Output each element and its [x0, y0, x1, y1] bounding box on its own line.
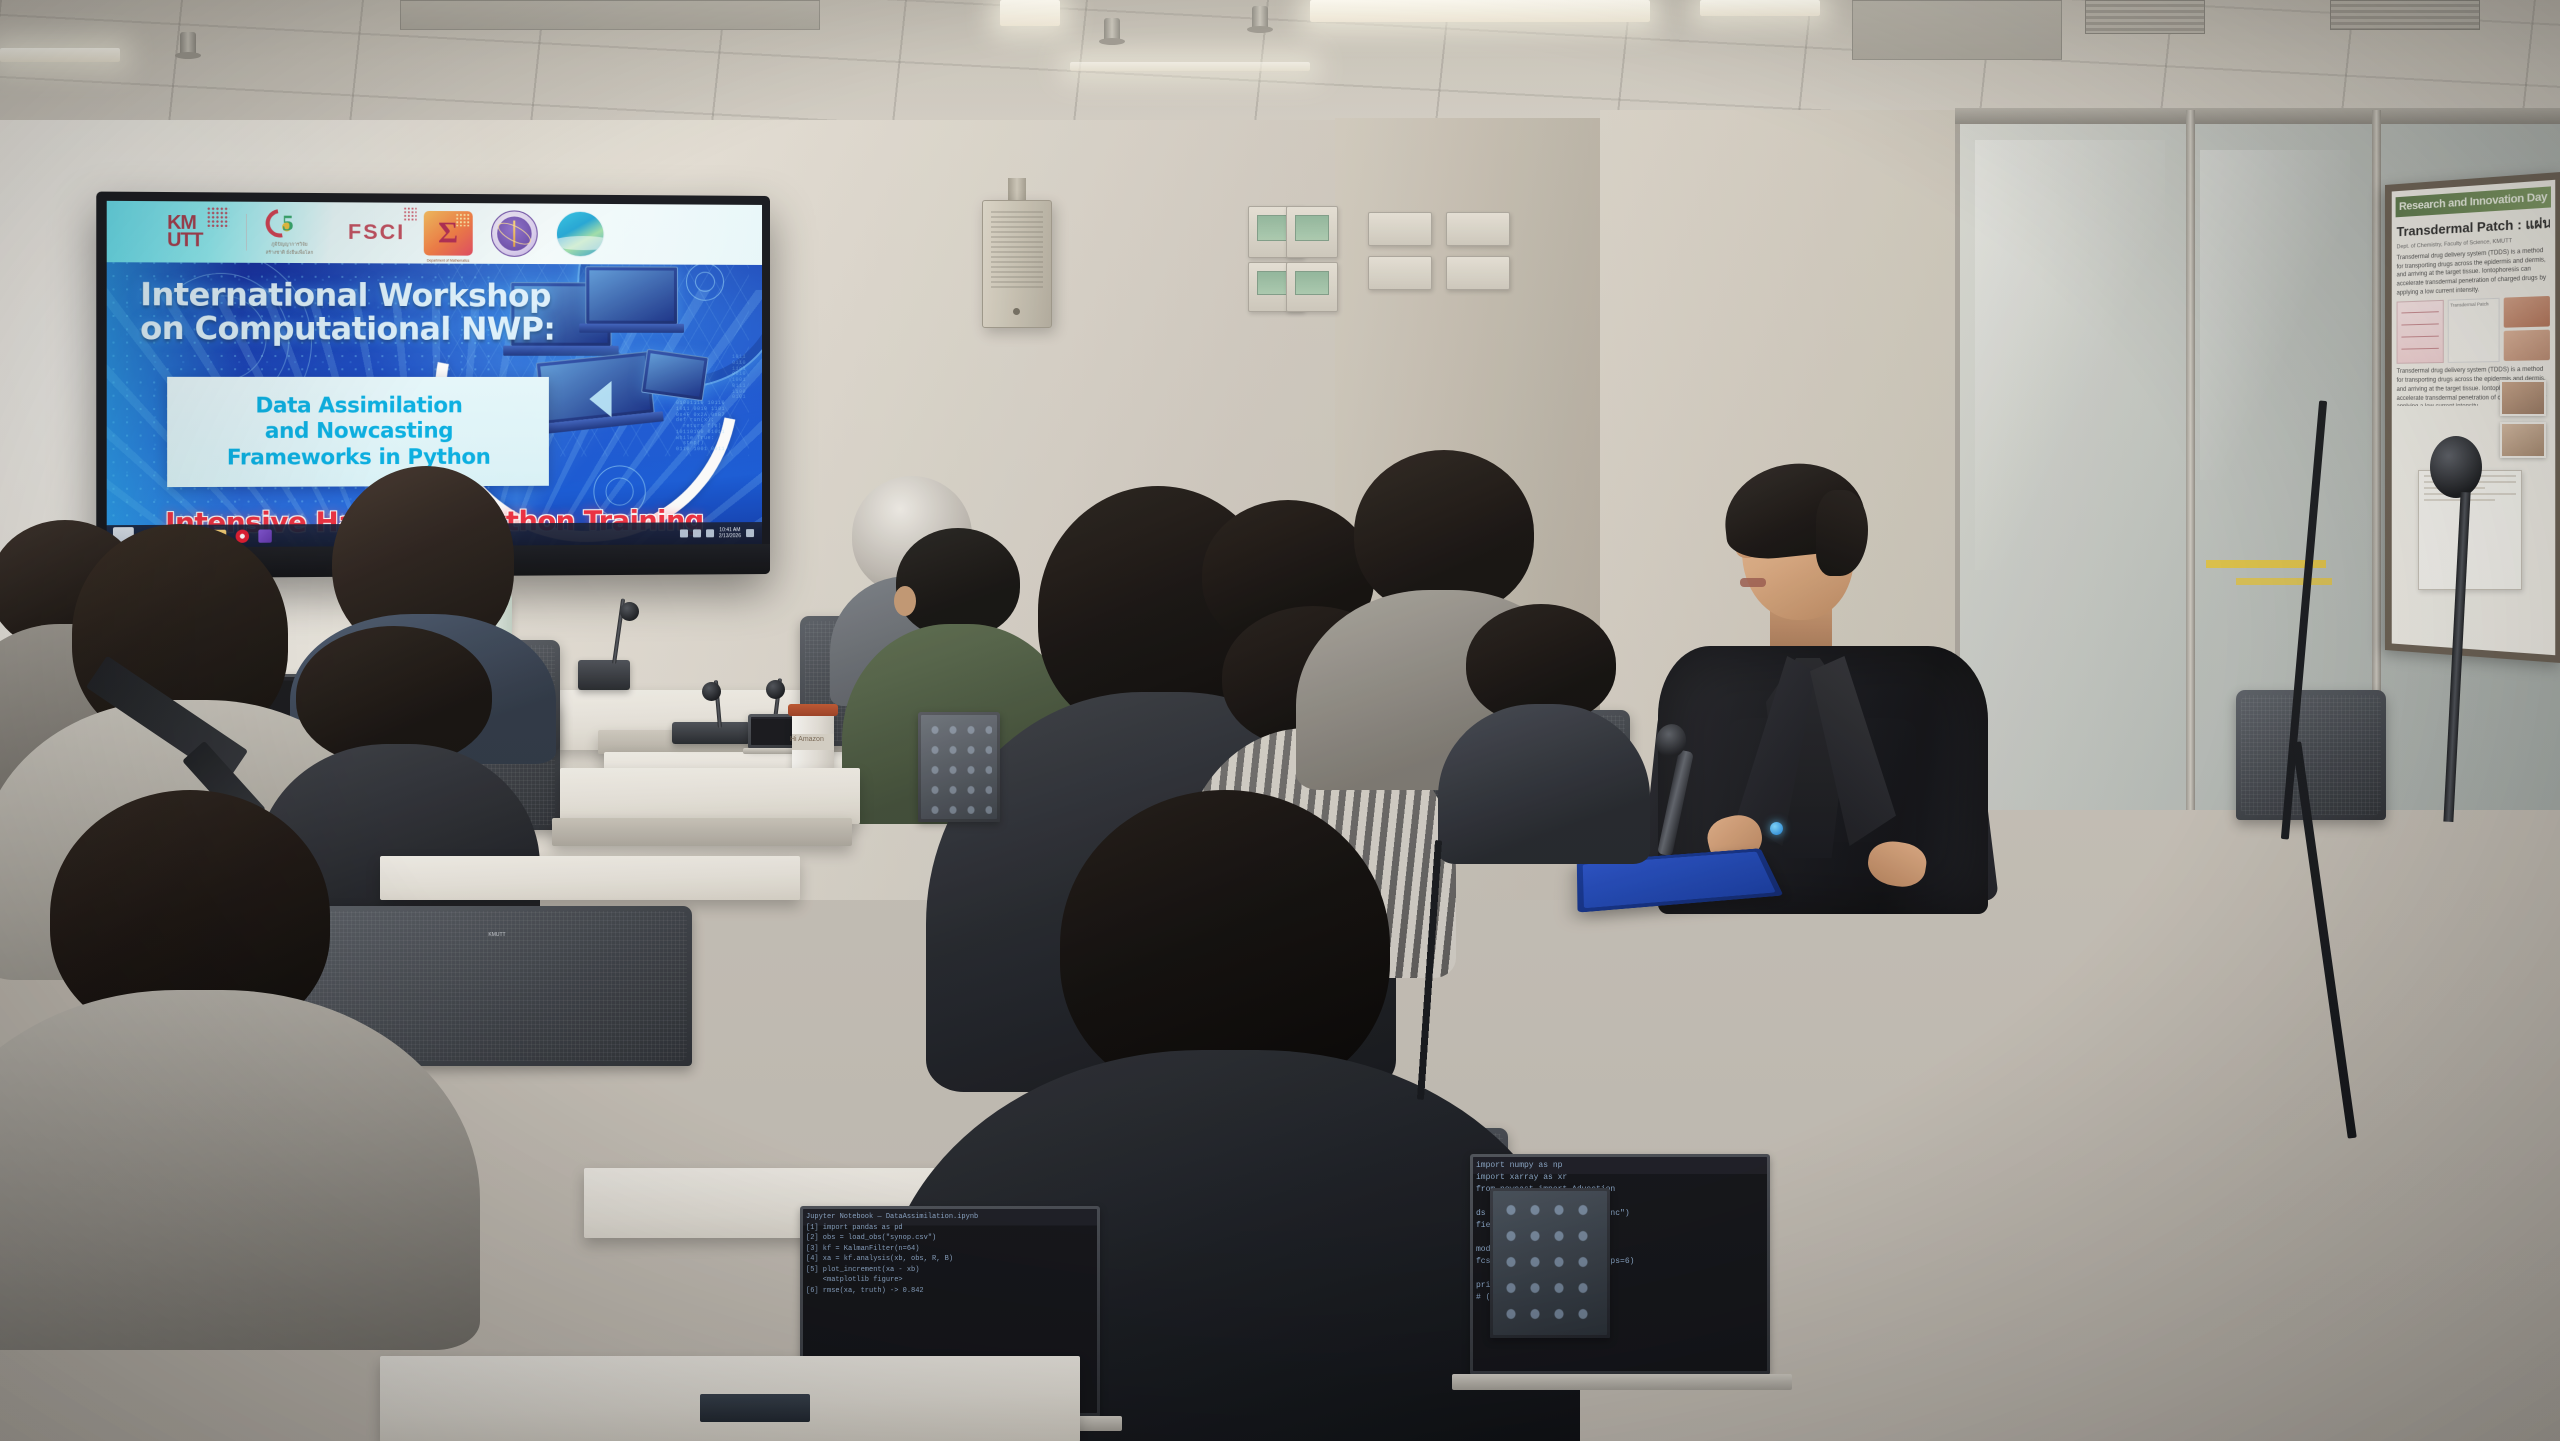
poster-figures: Transdermal Patch: [2397, 296, 2550, 364]
fire-sprinkler: [1104, 18, 1120, 44]
blank-wall-plate: [1446, 212, 1510, 246]
recessed-light-strip: [1000, 0, 1060, 26]
recessed-light-strip: [1070, 62, 1310, 71]
wall-photo: [2500, 380, 2546, 416]
desk: [380, 856, 800, 900]
math-dot-pattern: [455, 213, 470, 226]
anniversary-ring: [260, 203, 300, 243]
math-logo-caption: Department of Mathematics: [424, 258, 473, 262]
fsci-dot-pattern: [403, 207, 416, 222]
poster-photo-face: [2504, 330, 2550, 361]
slide-logo-bar: KM UTT 5 ภูมิปัญญาการวิจัย: [107, 201, 762, 265]
tablet-indicator: [1770, 822, 1783, 835]
chair[interactable]: [2236, 690, 2386, 820]
wall-photo: [2500, 422, 2546, 458]
slide-subtitle-line2: and Nowcasting: [227, 419, 491, 445]
cup-lid: [788, 704, 838, 716]
attendee-front-left: [0, 790, 440, 1310]
attendee-torso: [0, 990, 480, 1350]
desk-microphone-base: [672, 722, 750, 744]
fire-sprinkler: [180, 32, 196, 58]
foreground-book: [700, 1394, 810, 1422]
kmutt-dot-pattern: [207, 207, 230, 230]
recessed-light-strip: [1310, 0, 1650, 22]
system-tray: 10:41 AM 2/13/2026: [680, 527, 756, 540]
speaker-indicator: [1013, 308, 1020, 315]
ceiling-tile: [1852, 0, 2062, 60]
fsci-logo: FSCI: [348, 209, 405, 256]
desk-microphone-capsule: [620, 602, 639, 621]
glass-mullion: [2186, 110, 2195, 810]
network-icon[interactable]: [680, 529, 688, 537]
poster-diagram: Transdermal Patch: [2447, 298, 2499, 363]
desk: [552, 818, 852, 846]
glass-reflection: [2200, 150, 2350, 480]
coffee-cup[interactable]: [792, 712, 834, 774]
hydro-informatics-logo: [556, 211, 605, 258]
av-display: [1295, 271, 1329, 295]
desk-microphone-base: [578, 660, 630, 690]
poster-abstract: Transdermal drug delivery system (TDDS) …: [2397, 246, 2550, 298]
notification-icon[interactable]: [746, 529, 754, 537]
floor-tape: [2236, 578, 2332, 585]
logo-divider: [246, 214, 247, 251]
clock-date: 2/13/2026: [719, 533, 741, 539]
boom-microphone[interactable]: [2430, 436, 2482, 498]
fsci-logo-text: FSCI: [348, 221, 405, 246]
recessed-light-strip: [0, 48, 120, 62]
desk-microphone-capsule: [766, 680, 785, 699]
slide-chevron-graphic: [589, 381, 611, 417]
fire-sprinkler: [1252, 6, 1268, 32]
presenter-mouth: [1740, 578, 1766, 587]
anniversary-numeral: 5: [282, 210, 293, 237]
av-control-panel[interactable]: [1286, 262, 1338, 312]
mathematics-department-logo: Σ Department of Mathematics: [424, 211, 473, 256]
light-switch-panel[interactable]: [1286, 206, 1338, 258]
chair-brand-tag: KMUTT: [488, 932, 505, 938]
slide-code-texture: 1011 0110 1101 0010 1001 0111 1100 0101: [732, 355, 746, 401]
slide-title: International Workshop on Computational …: [140, 279, 581, 348]
poster-photos: [2504, 296, 2550, 362]
anniversary-65-logo: 5 ภูมิปัญญาการวิจัย สร้างชาติ ยั่งยืนเพื…: [266, 209, 330, 256]
blank-wall-plate: [1446, 256, 1510, 290]
wall-mounted-loudspeaker: [982, 200, 1052, 328]
kmutt-logo-line2: UTT: [167, 232, 202, 250]
slide-subtitle-line1: Data Assimilation: [227, 393, 491, 419]
kmutt-logo: KM UTT: [167, 208, 227, 255]
anniversary-thai-line1: ภูมิปัญญาการวิจัย: [266, 240, 314, 247]
presenter: [1620, 450, 2020, 910]
slide-title-line1: International Workshop: [140, 279, 581, 314]
glass-top-rail: [1955, 108, 2560, 124]
blank-wall-plate: [1368, 212, 1432, 246]
thai-meteorological-department-logo: [491, 210, 538, 257]
desk-microphone-capsule: [702, 682, 721, 701]
taskbar-clock[interactable]: 10:41 AM 2/13/2026: [719, 527, 741, 540]
slide-title-line2: on Computational NWP:: [140, 313, 581, 348]
poster-photo-arm: [2504, 296, 2550, 328]
speaker-grille: [991, 211, 1043, 289]
volume-icon[interactable]: [693, 529, 701, 537]
attendee-ear: [894, 586, 916, 616]
air-vent: [2085, 0, 2205, 34]
ceiling-tile: [400, 0, 820, 30]
anniversary-thai-line2: สร้างชาติ ยั่งยืนเพื่อโลก: [266, 249, 314, 256]
cup-brand-label: Hi Amazon: [790, 736, 824, 743]
battery-icon[interactable]: [706, 529, 714, 537]
slide-code-texture: 01001110 10110 1011 0010 1101 0x4F 0x2A …: [676, 401, 725, 453]
blank-wall-plate: [1368, 256, 1432, 290]
recessed-light-strip: [1700, 0, 1820, 16]
conference-room-photo: Research and Innovation Day Transdermal …: [0, 0, 2560, 1441]
tmd-emblem-icon: [497, 216, 532, 250]
poster-chart: [2397, 300, 2444, 364]
presenter-hair-back: [1816, 490, 1868, 576]
switch-indicator: [1295, 215, 1329, 241]
desk: [560, 768, 860, 824]
air-vent: [2330, 0, 2480, 30]
